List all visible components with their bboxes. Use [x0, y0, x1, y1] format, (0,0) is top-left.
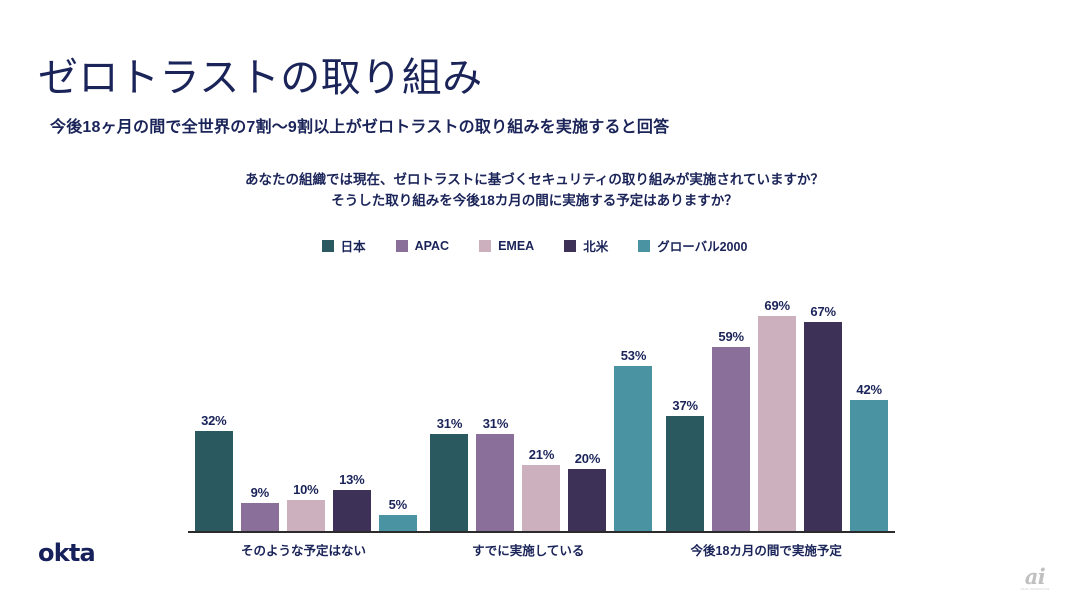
bar[interactable] [430, 434, 468, 531]
bar[interactable] [333, 490, 371, 531]
bar-value-label: 10% [293, 482, 318, 497]
bar-value-label: 37% [672, 398, 697, 413]
bar-column: 67% [804, 275, 842, 531]
legend-item-label: グローバル2000 [657, 236, 747, 255]
bar[interactable] [241, 503, 279, 531]
legend-swatch-icon [479, 240, 491, 252]
bar[interactable] [758, 316, 796, 531]
bar-value-label: 9% [251, 485, 269, 500]
bar-value-label: 20% [575, 451, 600, 466]
x-axis-category-label: そのような予定はない [241, 540, 366, 559]
legend-item-label: APAC [415, 239, 450, 253]
bar[interactable] [287, 500, 325, 531]
ai-watermark: ai ASAHI INTERACTIVE [1011, 566, 1059, 592]
okta-logo: okta [38, 539, 95, 567]
legend-swatch-icon [564, 240, 576, 252]
bar[interactable] [614, 366, 652, 531]
legend-swatch-icon [322, 240, 334, 252]
slide: ゼロトラストの取り組み 今後18ヶ月の間で全世界の7割～9割以上がゼロトラストの… [0, 0, 1069, 600]
ai-watermark-mark: ai [1011, 566, 1059, 587]
bar-value-label: 31% [437, 416, 462, 431]
bar-column: 31% [430, 275, 468, 531]
bar-column: 31% [476, 275, 514, 531]
chart-question: あなたの組織では現在、ゼロトラストに基づくセキュリティの取り組みが実施されていま… [0, 170, 1069, 212]
legend-item[interactable]: 日本 [322, 236, 366, 255]
bar-group: 31%31%21%20%53% [430, 275, 652, 531]
bar-value-label: 42% [856, 382, 881, 397]
ai-watermark-subtext: ASAHI INTERACTIVE [1011, 590, 1059, 592]
bar-groups: 32%9%10%13%5%31%31%21%20%53%37%59%69%67%… [188, 275, 895, 531]
bar-column: 9% [241, 275, 279, 531]
legend-swatch-icon [638, 240, 650, 252]
bar-column: 53% [614, 275, 652, 531]
bar-column: 5% [379, 275, 417, 531]
bar-column: 20% [568, 275, 606, 531]
legend-item[interactable]: 北米 [564, 236, 608, 255]
bar[interactable] [476, 434, 514, 531]
bar-group: 37%59%69%67%42% [666, 275, 888, 531]
bar-column: 13% [333, 275, 371, 531]
bar[interactable] [850, 400, 888, 531]
legend-item[interactable]: EMEA [479, 239, 534, 253]
legend-item[interactable]: グローバル2000 [638, 236, 747, 255]
chart-question-line-2: そうした取り組みを今後18カ月の間に実施する予定はありますか？ [0, 191, 1069, 212]
x-axis-category-label: 今後18カ月の間で実施予定 [691, 540, 842, 559]
bar-column: 37% [666, 275, 704, 531]
x-axis-category-labels: そのような予定はないすでに実施している今後18カ月の間で実施予定 [188, 540, 895, 559]
bar[interactable] [666, 416, 704, 531]
bar-value-label: 13% [339, 472, 364, 487]
bar[interactable] [379, 515, 417, 531]
bar-column: 69% [758, 275, 796, 531]
legend-item-label: 北米 [583, 236, 608, 255]
legend-swatch-icon [396, 240, 408, 252]
bar[interactable] [522, 465, 560, 531]
legend-item-label: 日本 [341, 236, 366, 255]
x-axis-category-label: すでに実施している [472, 540, 584, 559]
chart-legend: 日本APACEMEA北米グローバル2000 [0, 236, 1069, 255]
x-axis-line [188, 531, 895, 533]
legend-item-label: EMEA [498, 239, 534, 253]
legend-item[interactable]: APAC [396, 239, 450, 253]
bar-column: 21% [522, 275, 560, 531]
bar-value-label: 5% [389, 497, 407, 512]
bar-value-label: 67% [810, 304, 835, 319]
bar-column: 10% [287, 275, 325, 531]
chart-plot-area: 32%9%10%13%5%31%31%21%20%53%37%59%69%67%… [188, 275, 895, 533]
bar-value-label: 32% [201, 413, 226, 428]
slide-subtitle: 今後18ヶ月の間で全世界の7割～9割以上がゼロトラストの取り組みを実施すると回答 [50, 113, 669, 137]
bar-value-label: 21% [529, 447, 554, 462]
bar-column: 59% [712, 275, 750, 531]
bar-value-label: 31% [483, 416, 508, 431]
bar-column: 42% [850, 275, 888, 531]
bar[interactable] [568, 469, 606, 531]
bar[interactable] [804, 322, 842, 531]
bar-group: 32%9%10%13%5% [195, 275, 417, 531]
chart-question-line-1: あなたの組織では現在、ゼロトラストに基づくセキュリティの取り組みが実施されていま… [0, 170, 1069, 191]
bar-value-label: 69% [764, 298, 789, 313]
bar[interactable] [195, 431, 233, 531]
page-title: ゼロトラストの取り組み [38, 55, 483, 101]
bar[interactable] [712, 347, 750, 531]
bar-value-label: 59% [718, 329, 743, 344]
bar-column: 32% [195, 275, 233, 531]
bar-value-label: 53% [621, 348, 646, 363]
